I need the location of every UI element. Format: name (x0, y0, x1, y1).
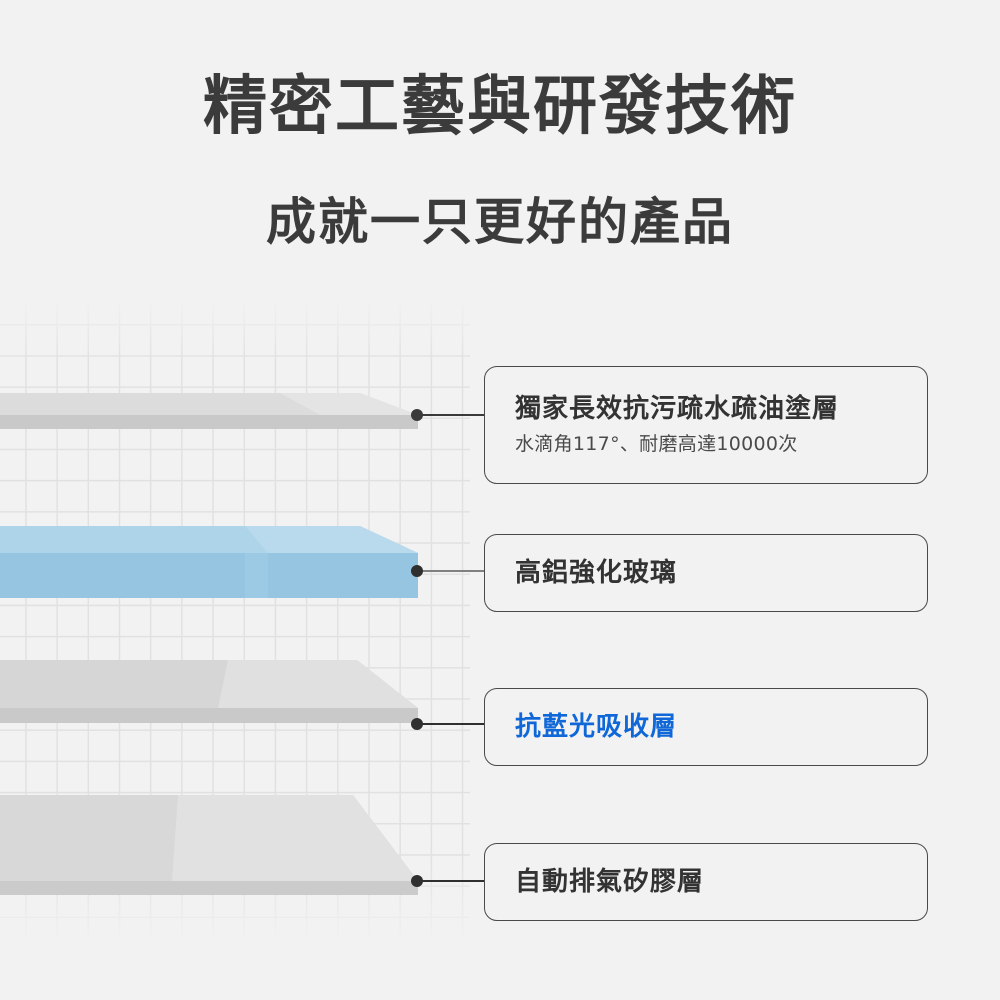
slab-blue-light-absorbing-layer (0, 660, 430, 732)
callout-anti-fouling-coating[interactable]: 獨家長效抗污疏水疏油塗層 水滴角117°、耐磨高達10000次 (484, 366, 928, 484)
page-subtitle: 成就一只更好的產品 (0, 196, 1000, 249)
callout-title: 抗藍光吸收層 (515, 711, 897, 744)
slab-aluminosilicate-glass (0, 526, 430, 606)
connector-dot (411, 565, 423, 577)
connector-aluminosilicate-glass (411, 565, 489, 577)
connector-anti-fouling-coating (411, 409, 489, 421)
callout-blue-light-absorbing-layer[interactable]: 抗藍光吸收層 (484, 688, 928, 766)
connector-dot (411, 409, 423, 421)
slab-anti-fouling-coating (0, 393, 430, 435)
heading-block: 精密工藝與研發技術 成就一只更好的產品 (0, 0, 1000, 300)
callout-title: 自動排氣矽膠層 (515, 866, 897, 899)
callout-subtitle: 水滴角117°、耐磨高達10000次 (515, 432, 897, 457)
callout-title: 獨家長效抗污疏水疏油塗層 (515, 393, 897, 426)
connector-blue-light-absorbing-layer (411, 718, 489, 730)
connector-auto-dispersion-silicone-layer (411, 875, 489, 887)
callout-aluminosilicate-glass[interactable]: 高鋁強化玻璃 (484, 534, 928, 612)
connector-dot (411, 875, 423, 887)
connector-line (417, 570, 489, 572)
connector-line (417, 880, 489, 882)
slab-auto-dispersion-silicone-layer (0, 795, 430, 895)
layer-stack-illustration (0, 300, 470, 1000)
connector-line (417, 723, 489, 725)
connector-dot (411, 718, 423, 730)
connector-line (417, 414, 489, 416)
callout-title: 高鋁強化玻璃 (515, 557, 897, 590)
callout-auto-dispersion-silicone-layer[interactable]: 自動排氣矽膠層 (484, 843, 928, 921)
page-title: 精密工藝與研發技術 (0, 74, 1000, 141)
